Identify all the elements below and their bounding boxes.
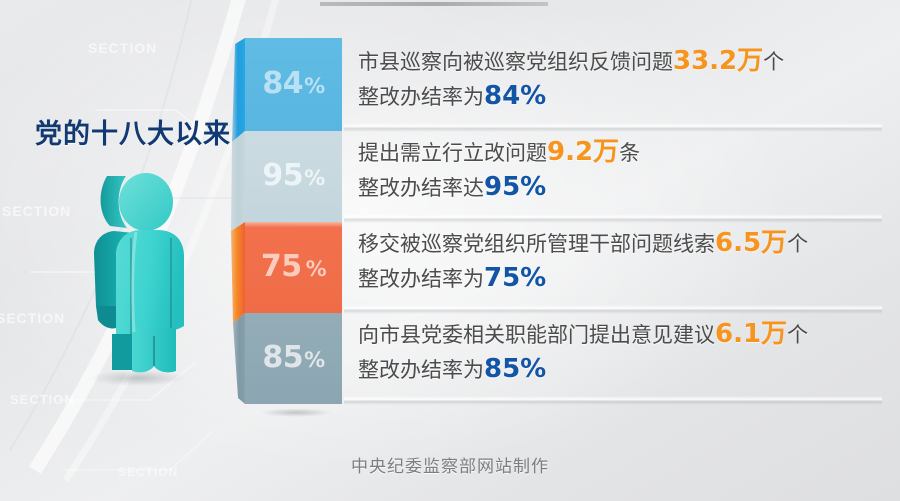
- list-item: 向市县党委相关职能部门提出意见建议6.1万个 整改办结率为85%: [358, 317, 878, 387]
- bar-value-3-symbol: %: [306, 257, 327, 281]
- stat-row-2-rate-label: 整改办结率达: [358, 176, 484, 200]
- stat-row-2-rate-value: 95%: [484, 172, 546, 202]
- stat-row-4-line-1: 向市县党委相关职能部门提出意见建议6.1万个: [358, 317, 878, 352]
- bar-value-4-number: 85: [262, 340, 303, 375]
- stat-row-4-text-post: 个: [787, 323, 808, 347]
- stat-row-3-text-pre: 移交被巡察党组织所管理干部问题线索: [358, 232, 715, 256]
- stat-row-3-highlight-count: 6.5万: [715, 228, 787, 258]
- stat-row-1-highlight-count: 33.2万: [673, 46, 763, 76]
- stat-row-1-line-1: 市县巡察向被巡察党组织反馈问题33.2万个: [358, 44, 878, 79]
- bar-value-1: 84%: [262, 69, 324, 99]
- stat-row-1-text-pre: 市县巡察向被巡察党组织反馈问题: [358, 50, 673, 74]
- bar-value-1-symbol: %: [304, 74, 325, 98]
- watermark-section-4: SECTION: [10, 392, 75, 407]
- bar-value-4-symbol: %: [304, 348, 325, 372]
- stat-row-2-text-post: 条: [619, 141, 640, 165]
- infographic-canvas: SECTION SECTION SECTION SECTION SECTION …: [0, 0, 900, 501]
- row-divider-1: [344, 123, 882, 132]
- bar-value-2: 95%: [262, 161, 324, 191]
- footer-credit: 中央纪委监察部网站制作: [0, 452, 900, 477]
- stat-row-1-rate-label: 整改办结率为: [358, 85, 484, 109]
- bar-value-2-number: 95: [262, 158, 303, 193]
- row-divider-3: [344, 305, 882, 314]
- watermark-section-3: SECTION: [0, 310, 65, 326]
- bar-value-1-number: 84: [262, 66, 303, 101]
- statistics-list: 市县巡察向被巡察党组织反馈问题33.2万个 整改办结率为84% 提出需立行立改问…: [358, 30, 878, 412]
- stat-row-1-rate-value: 84%: [484, 81, 546, 111]
- stat-row-2-highlight-count: 9.2万: [547, 137, 619, 167]
- stat-row-2-line-2: 整改办结率达95%: [358, 170, 878, 205]
- stacked-bar-chart: 84% 95% 75% 85%: [226, 30, 342, 412]
- stat-row-3-rate-value: 75%: [484, 263, 546, 293]
- stat-row-3-rate-label: 整改办结率为: [358, 267, 484, 291]
- watermark-section-1: SECTION: [88, 40, 157, 56]
- stat-row-1-line-2: 整改办结率为84%: [358, 79, 878, 114]
- stat-row-2-line-1: 提出需立行立改问题9.2万条: [358, 135, 878, 170]
- bar-segment-4[interactable]: 85%: [245, 313, 342, 404]
- bar-segment-1[interactable]: 84%: [245, 38, 342, 131]
- list-item: 市县巡察向被巡察党组织反馈问题33.2万个 整改办结率为84%: [358, 44, 878, 114]
- stat-row-4-text-pre: 向市县党委相关职能部门提出意见建议: [358, 323, 715, 347]
- stat-row-4-rate-value: 85%: [484, 354, 546, 384]
- person-icon: [72, 158, 212, 390]
- bar-value-3: 75%: [261, 252, 326, 282]
- list-item: 提出需立行立改问题9.2万条 整改办结率达95%: [358, 135, 878, 205]
- stat-row-4-highlight-count: 6.1万: [715, 319, 787, 349]
- stat-row-3-text-post: 个: [787, 232, 808, 256]
- bar-segment-2[interactable]: 95%: [245, 131, 342, 222]
- stat-row-4-rate-label: 整改办结率为: [358, 358, 484, 382]
- bar-value-3-number: 75: [261, 249, 302, 284]
- bar-value-2-symbol: %: [304, 166, 325, 190]
- row-divider-2: [344, 214, 882, 223]
- bar-segment-3[interactable]: 75%: [245, 222, 342, 313]
- top-divider-rule: [320, 2, 548, 6]
- stat-row-1-text-post: 个: [763, 50, 784, 74]
- stat-row-4-line-2: 整改办结率为85%: [358, 352, 878, 387]
- watermark-section-2: SECTION: [2, 203, 71, 219]
- stat-row-2-text-pre: 提出需立行立改问题: [358, 141, 547, 165]
- stat-row-3-line-1: 移交被巡察党组织所管理干部问题线索6.5万个: [358, 226, 878, 261]
- stat-row-3-line-2: 整改办结率为75%: [358, 261, 878, 296]
- page-title: 党的十八大以来: [28, 112, 238, 151]
- list-item: 移交被巡察党组织所管理干部问题线索6.5万个 整改办结率为75%: [358, 226, 878, 296]
- row-divider-4: [344, 396, 882, 405]
- bar-value-4: 85%: [262, 343, 324, 373]
